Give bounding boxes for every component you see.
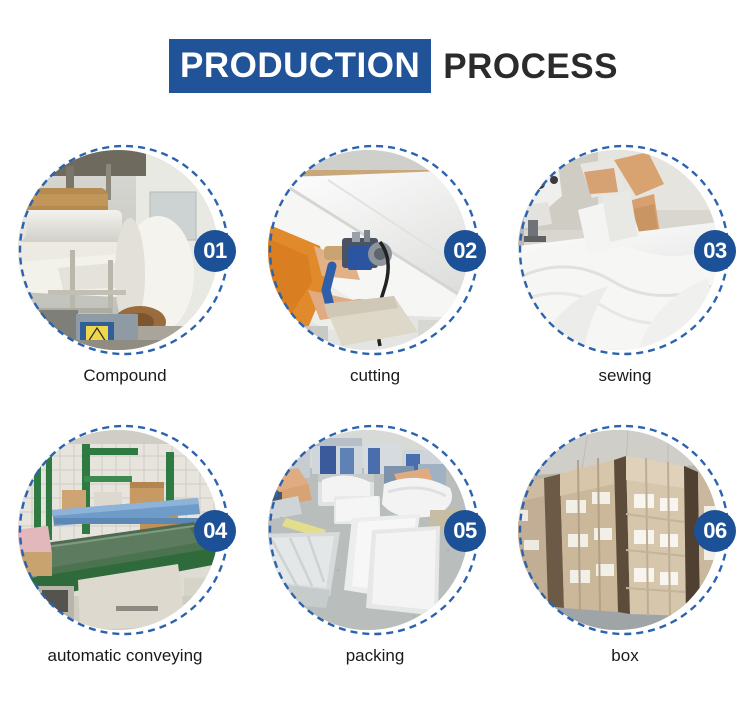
process-step-03[interactable]: 03 sewing: [500, 132, 750, 412]
page-title-rest: PROCESS: [431, 49, 618, 84]
process-step-02[interactable]: 02 cutting: [250, 132, 500, 412]
step-photo-cutting: [268, 150, 468, 350]
step-circle-01: 01: [16, 142, 232, 358]
step-circle-06: 06: [516, 422, 732, 638]
step-number-badge: 02: [444, 230, 486, 272]
process-step-06[interactable]: 06 box: [500, 412, 750, 692]
step-label: cutting: [250, 366, 500, 386]
step-number-badge: 03: [694, 230, 736, 272]
step-circle-02: 02: [266, 142, 482, 358]
step-label: box: [500, 646, 750, 666]
process-step-05[interactable]: 05 packing: [250, 412, 500, 692]
step-circle-05: 05: [266, 422, 482, 638]
process-row-2: 04 automatic conveying: [0, 412, 750, 692]
step-circle-03: 03: [516, 142, 732, 358]
step-number-badge: 05: [444, 510, 486, 552]
process-step-01[interactable]: 01 Compound: [0, 132, 250, 412]
step-photo-sewing: [518, 150, 718, 350]
step-photo-packing: [268, 430, 468, 630]
page-title-highlight: PRODUCTION: [169, 39, 431, 93]
step-number-badge: 06: [694, 510, 736, 552]
process-step-04[interactable]: 04 automatic conveying: [0, 412, 250, 692]
step-label: automatic conveying: [0, 646, 250, 666]
step-circle-04: 04: [16, 422, 232, 638]
step-photo-automatic-conveying: [18, 430, 218, 630]
step-label: sewing: [500, 366, 750, 386]
process-row-1: 01 Compound: [0, 132, 750, 412]
step-label: packing: [250, 646, 500, 666]
step-number-badge: 01: [194, 230, 236, 272]
step-photo-box: [518, 430, 718, 630]
step-number-badge: 04: [194, 510, 236, 552]
production-process-grid: 01 Compound: [0, 132, 750, 692]
page-title: PRODUCTION PROCESS: [169, 39, 618, 93]
step-photo-compound: [18, 150, 218, 350]
step-label: Compound: [0, 366, 250, 386]
